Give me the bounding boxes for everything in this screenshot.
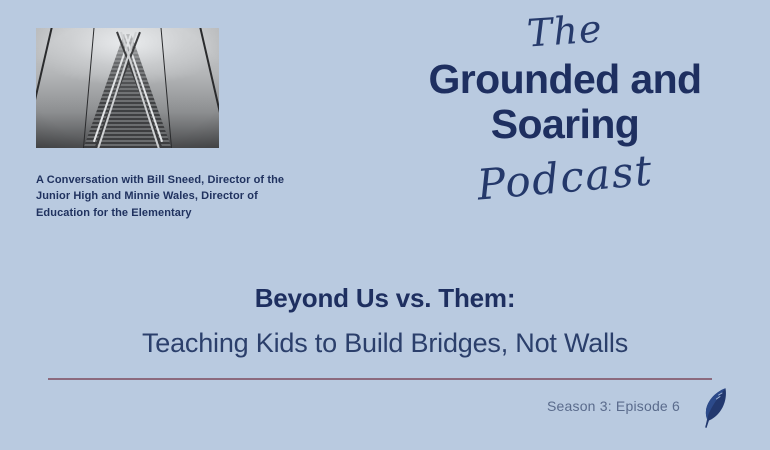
- suspension-bridge-photo: [36, 28, 219, 148]
- guest-caption: A Conversation with Bill Sneed, Director…: [36, 172, 306, 221]
- masthead-podcast-wrapper: Podcast: [400, 145, 730, 199]
- masthead-the: The: [526, 9, 604, 52]
- podcast-name-line-2: Soaring: [400, 103, 730, 146]
- masthead-podcast-word: Podcast: [475, 150, 654, 207]
- feather-quill-icon: [700, 385, 732, 431]
- episode-title-line-2: Teaching Kids to Build Bridges, Not Wall…: [0, 328, 770, 359]
- season-episode-label: Season 3: Episode 6: [430, 398, 680, 414]
- masthead-the-wrapper: The: [400, 12, 730, 50]
- photo-vignette: [36, 28, 219, 148]
- horizontal-divider: [48, 378, 712, 380]
- podcast-masthead: The Grounded and Soaring Podcast: [400, 12, 730, 199]
- podcast-episode-cover: A Conversation with Bill Sneed, Director…: [0, 0, 770, 450]
- podcast-name-line-1: Grounded and: [400, 58, 730, 101]
- episode-title-line-1: Beyond Us vs. Them:: [0, 283, 770, 314]
